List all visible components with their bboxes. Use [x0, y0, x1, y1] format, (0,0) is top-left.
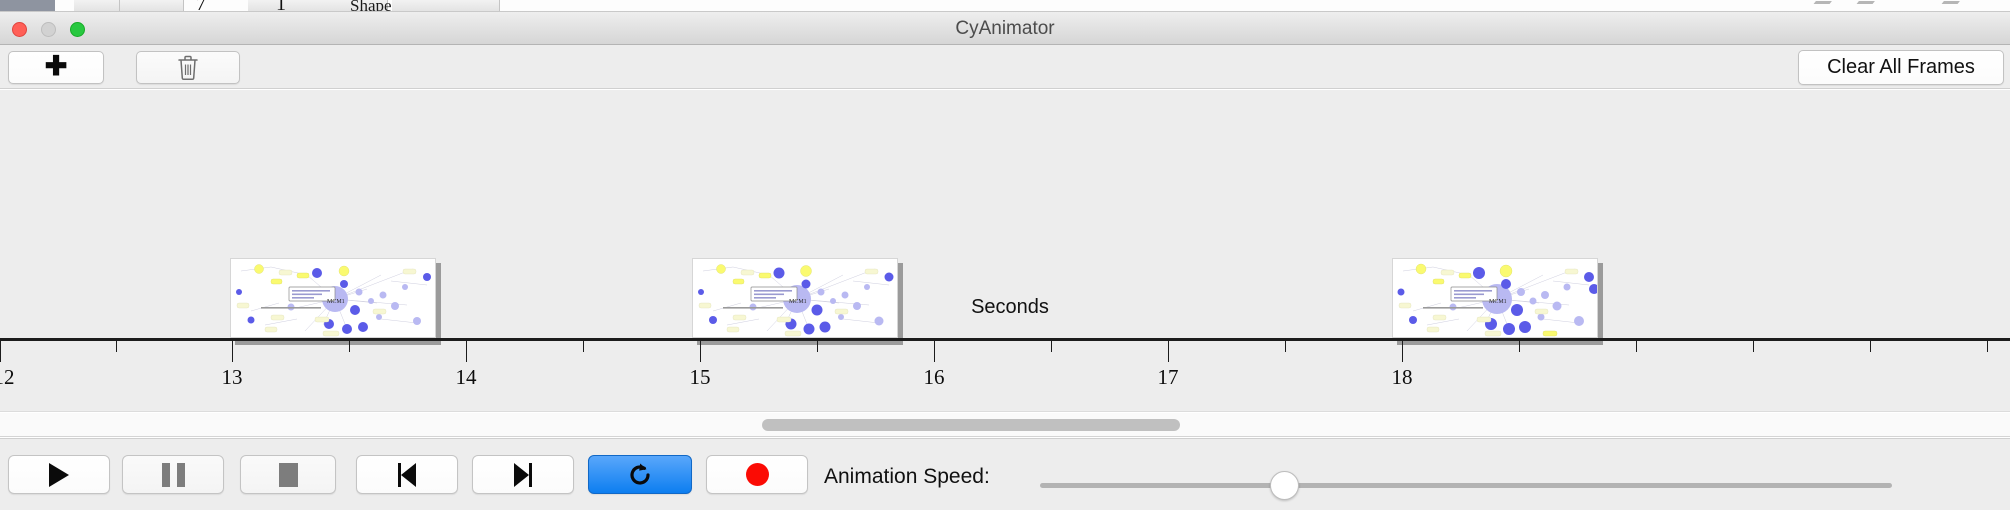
axis-tick-major [1402, 341, 1403, 362]
stop-button[interactable] [240, 455, 336, 494]
plus-icon: ✚ [45, 53, 68, 80]
clear-all-frames-label: Clear All Frames [1827, 56, 1975, 79]
axis-tick-major [466, 341, 467, 362]
record-icon [746, 463, 769, 486]
axis-tick-major [0, 341, 1, 362]
titlebar: CyAnimator [0, 12, 2010, 45]
axis-tick-minor [817, 341, 818, 352]
play-icon [49, 463, 69, 487]
axis-tick-label: 14 [456, 365, 477, 390]
timeline-scrollbar[interactable] [0, 413, 2010, 437]
axis-tick-minor [1636, 341, 1637, 352]
axis-tick-major [232, 341, 233, 362]
axis-tick-major [1168, 341, 1169, 362]
axis-tick-minor [349, 341, 350, 352]
axis-tick-minor [116, 341, 117, 352]
background-arrow-icon [1936, 1, 1960, 11]
timeline-panel[interactable]: MCM1 [0, 90, 2010, 412]
background-tab [392, 0, 500, 12]
axis-tick-minor [1987, 341, 1988, 352]
clear-all-frames-button[interactable]: Clear All Frames [1798, 50, 2004, 85]
skip-back-button[interactable] [356, 455, 458, 494]
axis-tick-minor [583, 341, 584, 352]
skip-forward-icon [511, 463, 535, 487]
axis-tick-minor [1051, 341, 1052, 352]
pause-button[interactable] [122, 455, 224, 494]
background-window-label: Shape [350, 0, 392, 12]
axis-title: Seconds [10, 296, 2010, 319]
background-arrow-icon [1851, 1, 1875, 11]
record-button[interactable] [706, 455, 808, 494]
window-title: CyAnimator [0, 18, 2010, 40]
axis-tick-label: 13 [222, 365, 243, 390]
animation-speed-label: Animation Speed: [824, 465, 990, 489]
axis-tick-label: 18 [1392, 365, 1413, 390]
background-titlebar-fragment [0, 0, 55, 11]
pause-icon [162, 463, 185, 487]
background-glyph: 7 [196, 0, 206, 12]
play-button[interactable] [8, 455, 110, 494]
axis-tick-major [934, 341, 935, 362]
playback-control-bar: Animation Speed: [0, 438, 2010, 510]
background-tab [120, 0, 184, 12]
timeline-scrollbar-thumb[interactable] [762, 419, 1180, 431]
axis-tick-major [700, 341, 701, 362]
loop-icon [626, 461, 654, 489]
animation-speed-slider-knob[interactable] [1270, 471, 1299, 500]
axis-tick-minor [1870, 341, 1871, 352]
axis-tick-minor [1285, 341, 1286, 352]
background-window-strip: 7 1 Shape [0, 0, 2010, 12]
axis-tick-minor [1753, 341, 1754, 352]
trash-icon [177, 55, 199, 81]
timeline-axis [0, 338, 2010, 341]
axis-tick-label: 15 [690, 365, 711, 390]
toolbar: ✚ Clear All Frames [0, 45, 2010, 89]
stop-icon [279, 463, 298, 487]
background-glyph: 1 [276, 0, 286, 12]
axis-tick-label: 12 [0, 365, 15, 390]
animation-speed-slider-track[interactable] [1040, 483, 1892, 488]
skip-back-icon [395, 463, 419, 487]
axis-tick-label: 16 [924, 365, 945, 390]
skip-forward-button[interactable] [472, 455, 574, 494]
add-frame-button[interactable]: ✚ [8, 51, 104, 84]
axis-tick-label: 17 [1158, 365, 1179, 390]
loop-button[interactable] [588, 455, 692, 494]
axis-tick-minor [1519, 341, 1520, 352]
delete-frame-button[interactable] [136, 51, 240, 84]
background-arrow-icon [1808, 1, 1832, 11]
background-tab [74, 0, 120, 12]
